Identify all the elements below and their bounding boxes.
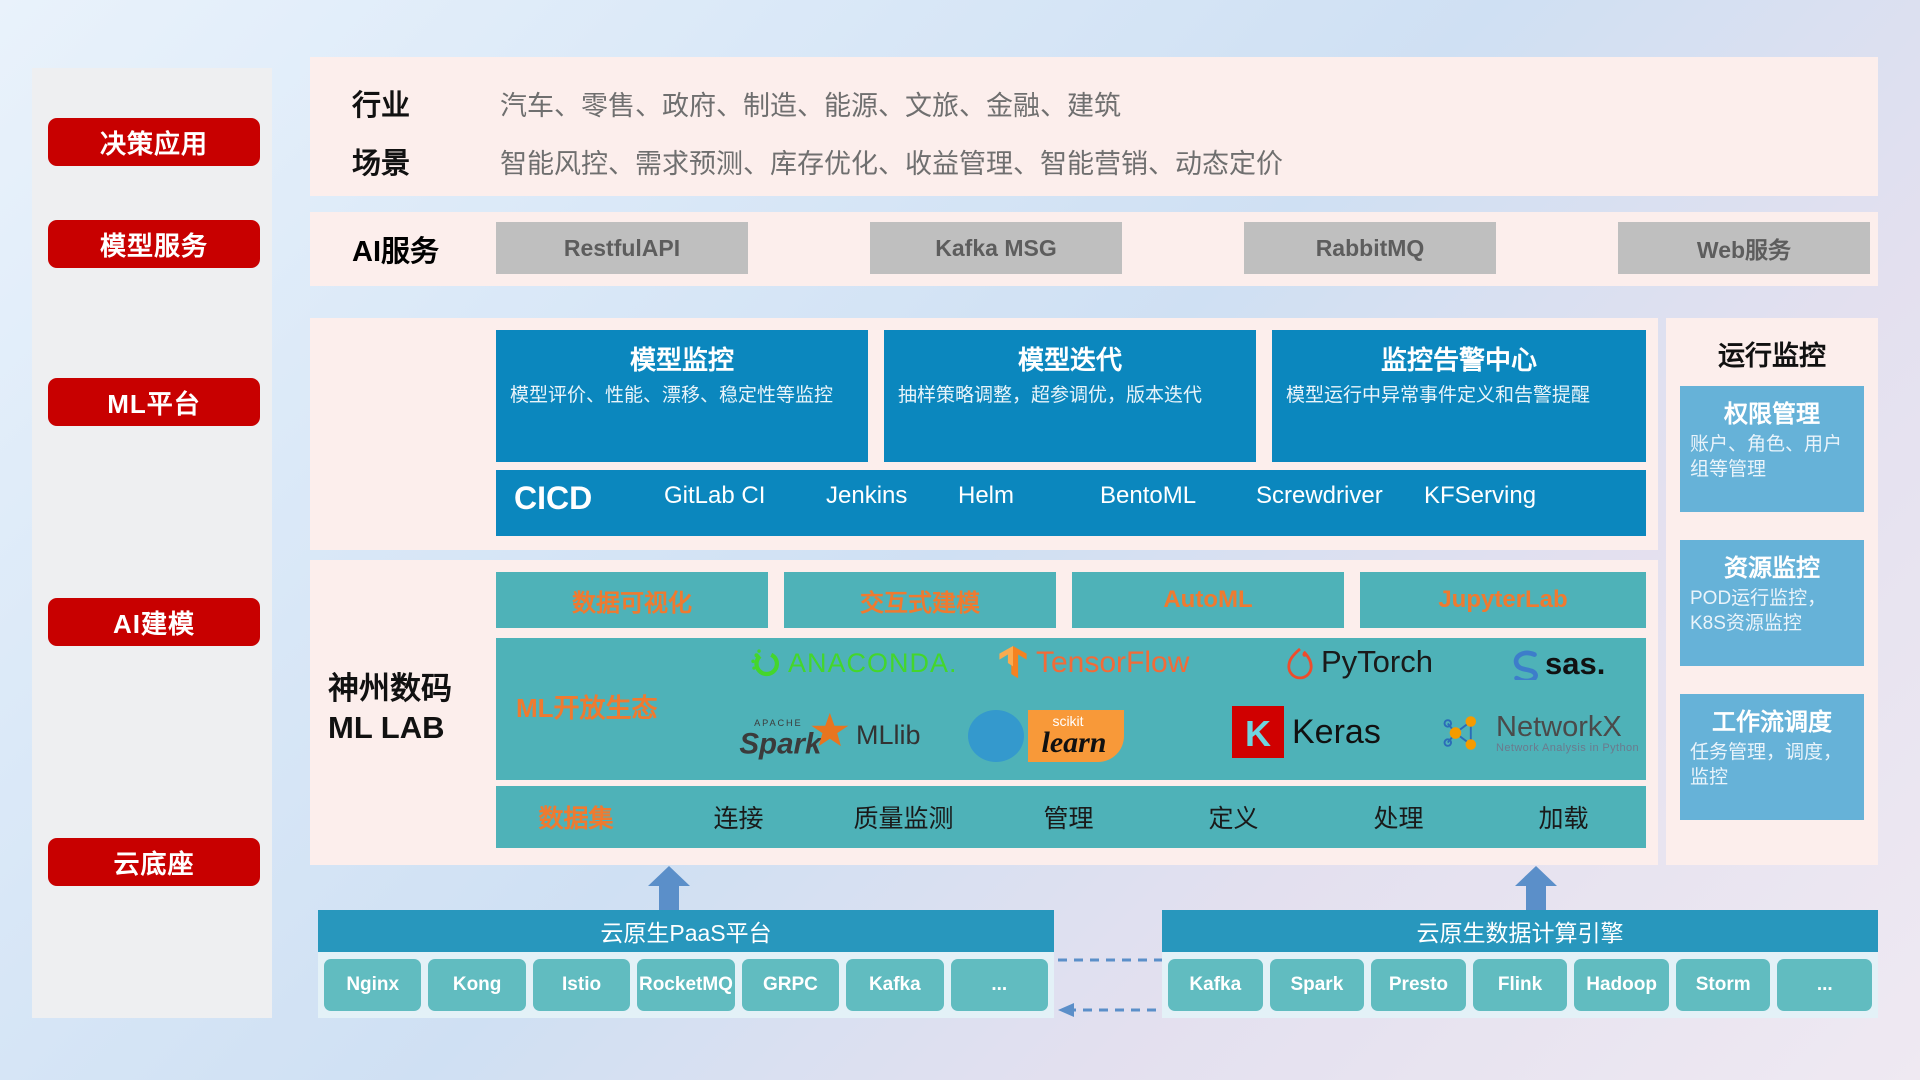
card-desc: POD运行监控，K8S资源监控: [1690, 587, 1854, 636]
cicd-bar: CICD GitLab CI Jenkins Helm BentoML Scre…: [496, 470, 1646, 536]
arrow-up-paas-icon: [646, 866, 692, 910]
dataset-item-process[interactable]: 处理: [1316, 799, 1481, 835]
keras-logo[interactable]: K Keras: [1232, 706, 1381, 758]
rail-chip-ai-modeling[interactable]: AI建模: [48, 598, 260, 646]
arrow-up-engine-icon: [1513, 866, 1559, 910]
anaconda-logo[interactable]: ANACONDA.: [748, 646, 958, 680]
tab-label: AutoML: [1163, 586, 1252, 614]
ai-service-item-label: RestfulAPI: [564, 235, 680, 262]
pytorch-logo[interactable]: PyTorch: [1286, 644, 1433, 680]
engine-chip-more[interactable]: ...: [1777, 959, 1872, 1011]
ml-lab-label-line1: 神州数码: [328, 670, 493, 709]
card-title: 模型监控: [510, 340, 854, 377]
tab-label: 交互式建模: [860, 583, 980, 618]
paas-chip-istio[interactable]: Istio: [533, 959, 630, 1011]
dataset-item-load[interactable]: 加载: [1481, 799, 1646, 835]
apache-spark-mark-icon: APACHE Spark: [732, 706, 852, 764]
monitoring-card-workflow[interactable]: 工作流调度 任务管理，调度，监控: [1680, 694, 1864, 820]
rail-chip-decision-apps[interactable]: 决策应用: [48, 118, 260, 166]
lab-tab-automl[interactable]: AutoML: [1072, 572, 1344, 628]
rail-chip-label: 模型服务: [100, 226, 208, 263]
card-title: 模型迭代: [898, 340, 1242, 377]
keras-mark-icon: K: [1232, 706, 1284, 758]
tensorflow-mark-icon: [996, 644, 1030, 682]
card-title: 权限管理: [1690, 394, 1854, 429]
paas-chip-kong[interactable]: Kong: [428, 959, 525, 1011]
ai-service-item-web-service[interactable]: Web服务: [1618, 222, 1870, 274]
card-title: 工作流调度: [1690, 702, 1854, 737]
ai-service-item-label: Kafka MSG: [935, 235, 1056, 262]
engine-chip-storm[interactable]: Storm: [1676, 959, 1771, 1011]
cicd-item-kfserving[interactable]: KFServing: [1424, 482, 1532, 510]
networkx-graph-icon: [1442, 710, 1490, 756]
paas-chip-more[interactable]: ...: [951, 959, 1048, 1011]
tab-label: 数据可视化: [572, 583, 692, 618]
dataset-item-quality[interactable]: 质量监测: [821, 799, 986, 835]
svg-text:learn: learn: [1041, 726, 1106, 759]
ml-lab-panel: 神州数码 ML LAB 数据可视化 交互式建模 AutoML JupyterLa…: [310, 560, 1658, 865]
ml-lab-label: 神州数码 ML LAB: [328, 670, 493, 748]
rail-chip-cloud-base[interactable]: 云底座: [48, 838, 260, 886]
ml-ecosystem-bar: ML开放生态 ANACONDA. TensorFlow PyTorch: [496, 638, 1646, 780]
anaconda-wordmark: ANACONDA.: [788, 648, 958, 679]
tensorflow-logo[interactable]: TensorFlow: [996, 644, 1189, 682]
cicd-item-screwdriver[interactable]: Screwdriver: [1256, 482, 1364, 510]
dataset-item-manage[interactable]: 管理: [986, 799, 1151, 835]
paas-group: 云原生PaaS平台 Nginx Kong Istio RocketMQ GRPC…: [318, 910, 1054, 1018]
ai-service-item-rabbitmq[interactable]: RabbitMQ: [1244, 222, 1496, 274]
cicd-title: CICD: [514, 480, 592, 517]
ai-service-item-label: Web服务: [1697, 231, 1791, 265]
networkx-tagline: Network Analysis in Python: [1496, 742, 1639, 754]
ai-service-item-label: RabbitMQ: [1316, 235, 1425, 262]
monitoring-title: 运行监控: [1666, 334, 1878, 373]
svg-text:Spark: Spark: [739, 727, 823, 760]
svg-text:K: K: [1245, 713, 1271, 754]
data-engine-chip-list: Kafka Spark Presto Flink Hadoop Storm ..…: [1162, 952, 1878, 1018]
scikit-learn-mark-icon: scikit learn: [956, 704, 1146, 764]
tensorflow-wordmark: TensorFlow: [1036, 646, 1189, 680]
dataset-bar: 数据集 连接 质量监测 管理 定义 处理 加载: [496, 786, 1646, 848]
sas-logo[interactable]: sas.: [1510, 646, 1605, 682]
industry-value: 汽车、零售、政府、制造、能源、文旅、金融、建筑: [500, 84, 1121, 123]
rail-chip-label: 决策应用: [100, 124, 208, 161]
decision-apps-panel: 行业 汽车、零售、政府、制造、能源、文旅、金融、建筑 场景 智能风控、需求预测、…: [310, 57, 1878, 196]
paas-chip-rocketmq[interactable]: RocketMQ: [637, 959, 734, 1011]
mlops-card-model-iteration[interactable]: 模型迭代 抽样策略调整，超参调优，版本迭代: [884, 330, 1256, 462]
keras-wordmark: Keras: [1292, 713, 1381, 752]
ml-ecosystem-label: ML开放生态: [516, 688, 658, 725]
sas-mark-icon: [1510, 648, 1542, 680]
pytorch-wordmark: PyTorch: [1321, 644, 1433, 680]
anaconda-mark-icon: [748, 646, 782, 680]
paas-title: 云原生PaaS平台: [318, 910, 1054, 952]
card-desc: 任务管理，调度，监控: [1690, 741, 1854, 790]
networkx-logo[interactable]: NetworkX Network Analysis in Python: [1442, 710, 1639, 756]
scenario-label: 场景: [352, 140, 410, 182]
card-desc: 模型评价、性能、漂移、稳定性等监控: [510, 383, 854, 408]
sas-wordmark: sas.: [1545, 646, 1605, 682]
ml-lab-label-line2: ML LAB: [328, 709, 493, 748]
paas-chip-nginx[interactable]: Nginx: [324, 959, 421, 1011]
lab-tab-data-visualization[interactable]: 数据可视化: [496, 572, 768, 628]
cicd-item-bentoml[interactable]: BentoML: [1100, 482, 1208, 510]
scikit-learn-logo[interactable]: scikit learn: [956, 704, 1146, 769]
monitoring-panel: 运行监控 权限管理 账户、角色、用户组等管理 资源监控 POD运行监控，K8S资…: [1666, 318, 1878, 865]
spark-mllib-logo[interactable]: APACHE Spark MLlib: [732, 706, 921, 764]
lab-tab-jupyterlab[interactable]: JupyterLab: [1360, 572, 1646, 628]
card-desc: 账户、角色、用户组等管理: [1690, 433, 1854, 482]
rail-chip-label: ML平台: [107, 384, 201, 421]
engine-chip-kafka[interactable]: Kafka: [1168, 959, 1263, 1011]
paas-chip-kafka[interactable]: Kafka: [846, 959, 943, 1011]
ai-service-panel: AI服务 RestfulAPI Kafka MSG RabbitMQ Web服务: [310, 212, 1878, 286]
mlops-panel: MLOps 模型监控 模型评价、性能、漂移、稳定性等监控 模型迭代 抽样策略调整…: [310, 318, 1658, 550]
dataset-label: 数据集: [496, 799, 656, 835]
mlops-card-alert-center[interactable]: 监控告警中心 模型运行中异常事件定义和告警提醒: [1272, 330, 1646, 462]
monitoring-card-resources[interactable]: 资源监控 POD运行监控，K8S资源监控: [1680, 540, 1864, 666]
mlops-card-model-monitoring[interactable]: 模型监控 模型评价、性能、漂移、稳定性等监控: [496, 330, 868, 462]
rail-chip-model-service[interactable]: 模型服务: [48, 220, 260, 268]
cicd-item-jenkins[interactable]: Jenkins: [826, 482, 934, 510]
dataset-item-connect[interactable]: 连接: [656, 799, 821, 835]
engine-chip-hadoop[interactable]: Hadoop: [1574, 959, 1669, 1011]
cicd-item-helm[interactable]: Helm: [958, 482, 1066, 510]
ai-service-item-kafka-msg[interactable]: Kafka MSG: [870, 222, 1122, 274]
left-layer-rail: 决策应用 模型服务 ML平台 AI建模 云底座: [32, 68, 272, 1018]
card-desc: 抽样策略调整，超参调优，版本迭代: [898, 383, 1242, 408]
scenario-value: 智能风控、需求预测、库存优化、收益管理、智能营销、动态定价: [500, 142, 1283, 181]
svg-text:APACHE: APACHE: [754, 718, 802, 728]
monitoring-card-permissions[interactable]: 权限管理 账户、角色、用户组等管理: [1680, 386, 1864, 512]
data-engine-title: 云原生数据计算引擎: [1162, 910, 1878, 952]
industry-label: 行业: [352, 82, 410, 124]
pytorch-flame-icon: [1286, 644, 1314, 680]
engine-chip-presto[interactable]: Presto: [1371, 959, 1466, 1011]
data-engine-group: 云原生数据计算引擎 Kafka Spark Presto Flink Hadoo…: [1162, 910, 1878, 1018]
dataset-item-define[interactable]: 定义: [1151, 799, 1316, 835]
lab-tab-interactive-modeling[interactable]: 交互式建模: [784, 572, 1056, 628]
networkx-wordmark: NetworkX: [1496, 713, 1639, 742]
engine-chip-flink[interactable]: Flink: [1473, 959, 1568, 1011]
rail-chip-ml-platform[interactable]: ML平台: [48, 378, 260, 426]
engine-chip-spark[interactable]: Spark: [1270, 959, 1365, 1011]
ai-service-label: AI服务: [352, 228, 439, 270]
tab-label: JupyterLab: [1438, 586, 1567, 614]
card-title: 监控告警中心: [1286, 340, 1632, 377]
rail-chip-label: 云底座: [113, 844, 194, 881]
card-title: 资源监控: [1690, 548, 1854, 583]
ai-service-item-restfulapi[interactable]: RestfulAPI: [496, 222, 748, 274]
mllib-wordmark: MLlib: [856, 720, 921, 751]
cicd-item-gitlab-ci[interactable]: GitLab CI: [664, 482, 772, 510]
paas-chip-grpc[interactable]: GRPC: [742, 959, 839, 1011]
rail-chip-label: AI建模: [113, 604, 195, 641]
paas-chip-list: Nginx Kong Istio RocketMQ GRPC Kafka ...: [318, 952, 1054, 1018]
card-desc: 模型运行中异常事件定义和告警提醒: [1286, 383, 1632, 408]
